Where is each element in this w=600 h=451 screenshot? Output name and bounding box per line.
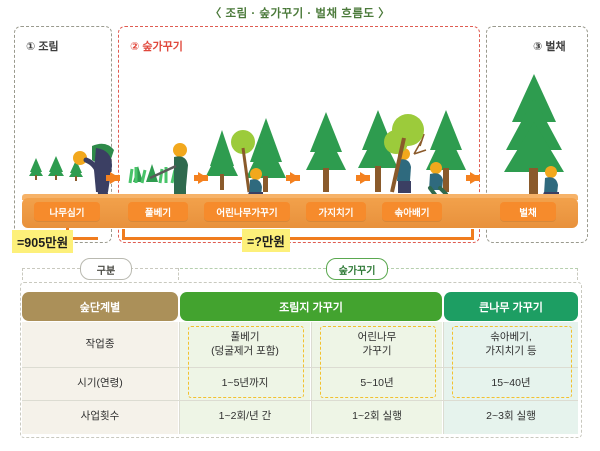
stage-chip-namusimgi[interactable]: 나무심기 <box>34 202 100 221</box>
flow-arrow-3 <box>290 172 300 184</box>
stage-chip-gajichigi[interactable]: 가지치기 <box>306 202 366 221</box>
flow-arrow-4 <box>360 172 370 184</box>
forest-illustration <box>0 26 600 201</box>
flow-arrow-2 <box>198 172 208 184</box>
tag-pill-gubun: 구분 <box>80 258 132 280</box>
stage-chip-eorinnamu[interactable]: 어린나무가꾸기 <box>204 202 290 221</box>
flow-diagram: ① 조림 ② 숲가꾸기 ③ 벌채 <box>0 26 600 254</box>
page-title: 〈 조림 · 숲가꾸기 · 벌채 흐름도 〉 <box>0 5 600 21</box>
tag-tick-right <box>577 268 578 280</box>
tag-dash-mid <box>130 268 178 269</box>
worker-mowing <box>150 143 188 198</box>
young-tree-group <box>206 118 286 192</box>
infographic-page: 〈 조림 · 숲가꾸기 · 벌채 흐름도 〉 ① 조림 ② 숲가꾸기 ③ 벌채 <box>0 0 600 451</box>
cost-bracket-2-line <box>122 237 474 240</box>
tag-tick-left <box>22 268 23 280</box>
tag-dash-green-left <box>180 268 326 269</box>
cost-label-question: =?만원 <box>242 229 290 252</box>
table-outer-dashed-border <box>20 282 582 438</box>
flow-arrow-5 <box>470 172 480 184</box>
table-tag-row: 구분 숲가꾸기 <box>0 258 600 282</box>
grass-group <box>130 164 175 183</box>
cost-label-905: =905만원 <box>12 230 73 253</box>
ground-band <box>22 198 578 228</box>
tag-dash-green-right <box>386 268 578 269</box>
cost-bracket-2-tick-l <box>122 229 125 239</box>
mature-tree-group-1 <box>306 110 398 192</box>
cost-bracket-2-tick-r <box>471 229 474 239</box>
tag-dash-left <box>22 268 80 269</box>
stage-chip-pulbegi[interactable]: 풀베기 <box>128 202 188 221</box>
tag-tick-mid <box>178 268 179 280</box>
flow-arrow-1 <box>110 172 120 184</box>
tag-pill-supgakkugi: 숲가꾸기 <box>326 258 388 280</box>
stage-chip-beolchae[interactable]: 벌채 <box>500 202 556 221</box>
stage-chip-sokabaegi[interactable]: 솎아배기 <box>382 202 442 221</box>
summary-table: 숲단계별 조림지 가꾸기 큰나무 가꾸기 작업종 풀베기 (덩굴제거 포함) 어… <box>22 292 578 434</box>
